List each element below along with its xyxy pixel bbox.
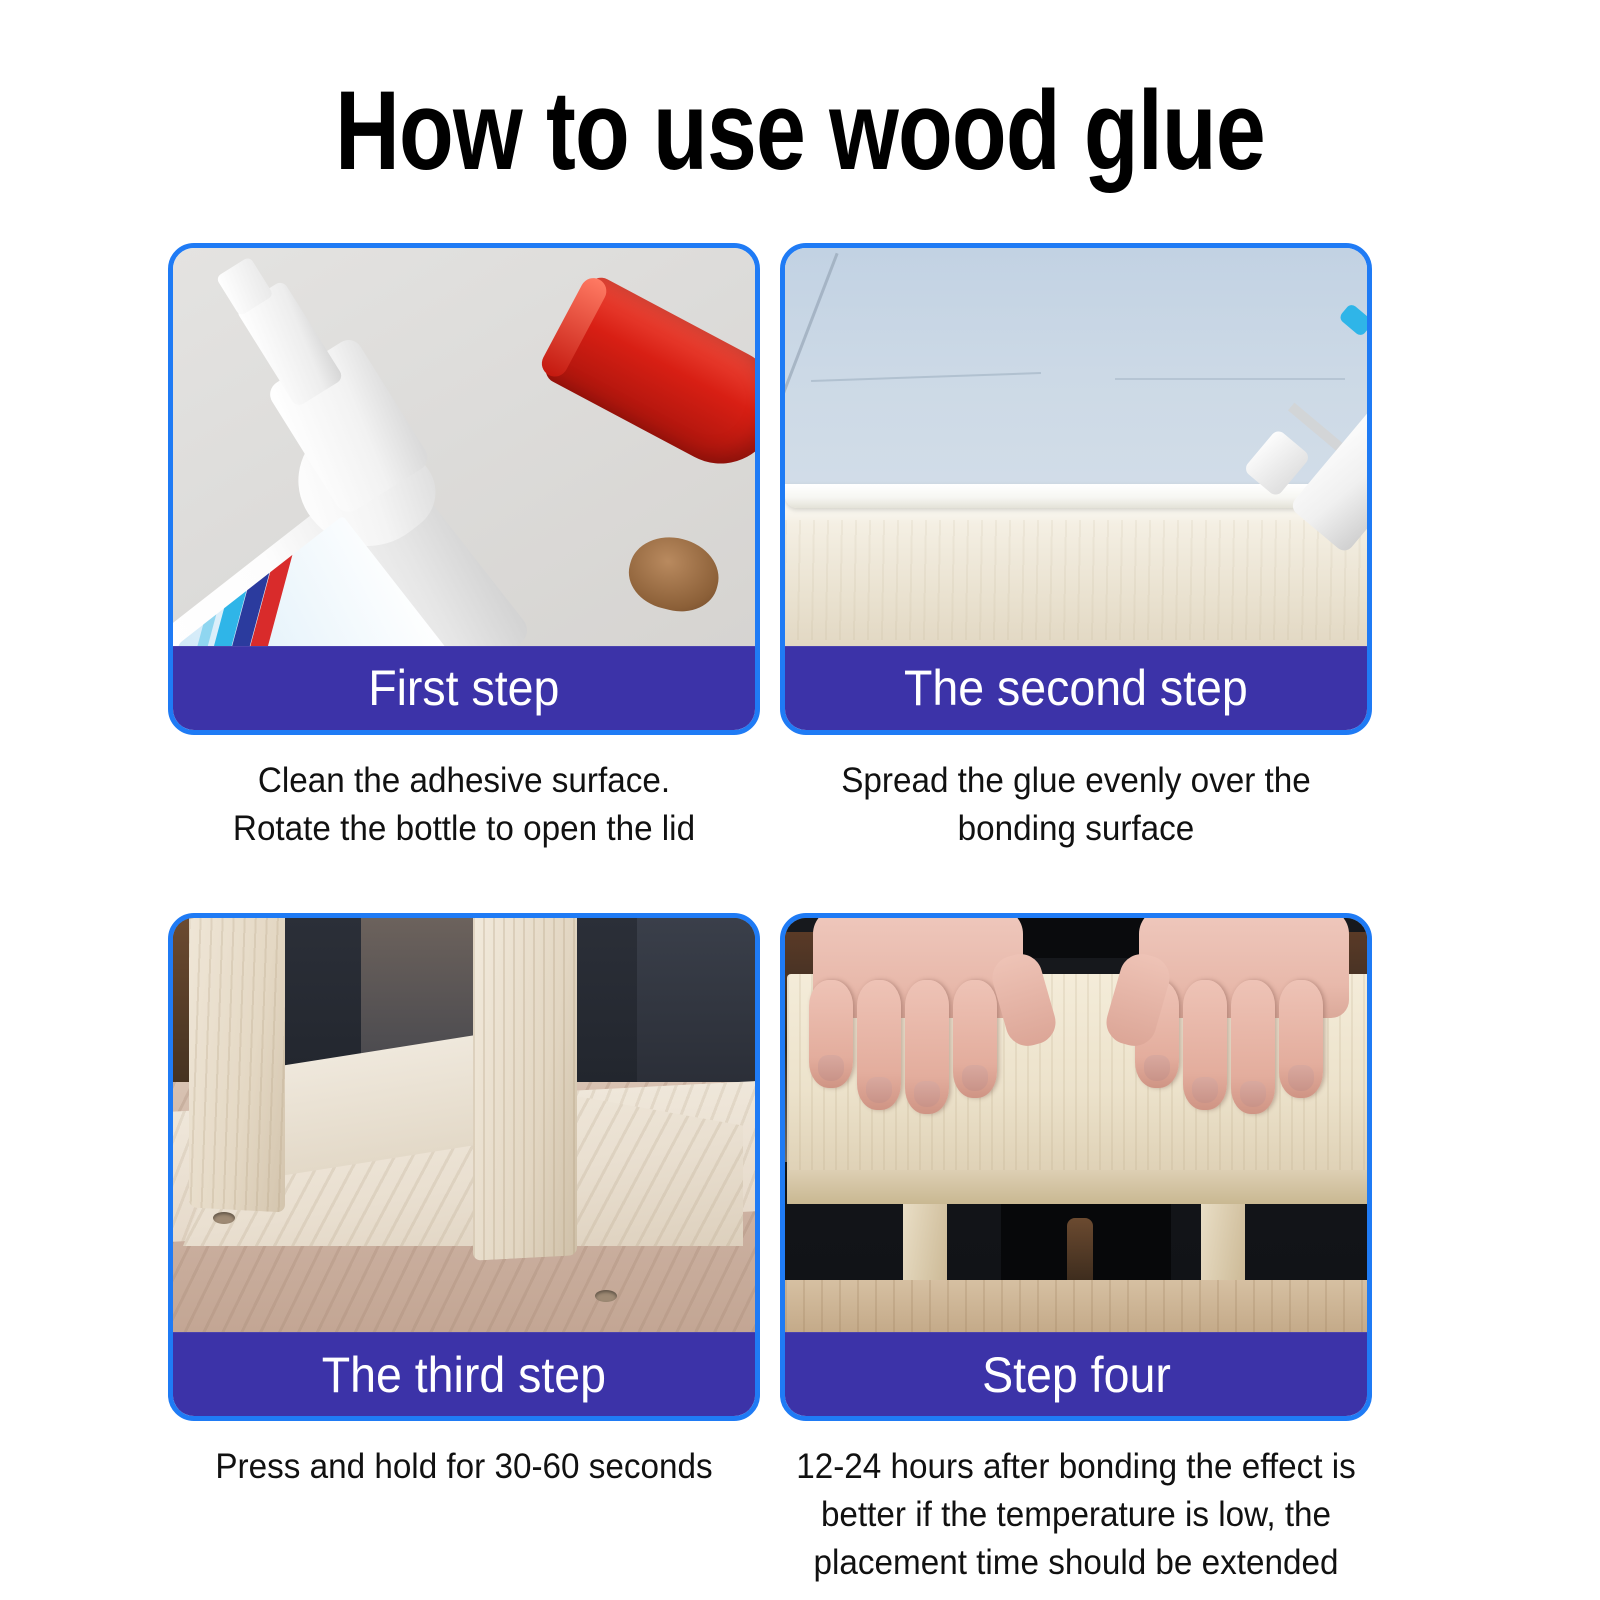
thumb-icon xyxy=(622,528,727,620)
step-card-4[interactable]: Step four xyxy=(780,913,1372,1421)
step-1-description-line-1: Clean the adhesive surface. xyxy=(174,757,754,805)
left-hand-icon xyxy=(803,918,1033,1123)
step-1-description: Clean the adhesive surface. Rotate the b… xyxy=(174,757,754,853)
step-1-photo: Logo 木材通用胶 xyxy=(173,248,755,646)
steps-grid: Logo 木材通用胶 First step Clean the adhesive… xyxy=(168,243,1432,1583)
step-1-description-line-2: Rotate the bottle to open the lid xyxy=(174,805,754,853)
step-4-badge-bar: Step four xyxy=(785,1332,1367,1417)
step-4-badge-label: Step four xyxy=(982,1346,1171,1404)
step-3-badge-label: The third step xyxy=(322,1346,606,1404)
step-3-description-line-1: Press and hold for 30-60 seconds xyxy=(174,1443,754,1491)
step-3-description: Press and hold for 30-60 seconds xyxy=(174,1443,754,1491)
step-4-description-line-1: 12-24 hours after bonding the effect is xyxy=(786,1443,1366,1491)
step-4-photo xyxy=(785,918,1367,1332)
dowel-hole-icon xyxy=(213,1212,235,1224)
step-2-description: Spread the glue evenly over the bonding … xyxy=(786,757,1366,853)
step-1-badge-bar: First step xyxy=(173,646,755,730)
step-cell-3: The third step Press and hold for 30-60 … xyxy=(168,913,760,1491)
step-3-photo xyxy=(173,918,755,1332)
step-cell-2: The second step Spread the glue evenly o… xyxy=(780,243,1372,853)
step-cell-1: Logo 木材通用胶 First step Clean the adhesive… xyxy=(168,243,760,853)
red-cap-icon xyxy=(541,273,755,483)
glue-bottle-icon: Logo 木材通用胶 xyxy=(173,347,551,646)
step-2-badge-label: The second step xyxy=(904,659,1248,717)
dowel-hole-icon xyxy=(595,1290,617,1302)
step-card-1[interactable]: Logo 木材通用胶 First step xyxy=(168,243,760,735)
step-cell-4: Step four 12-24 hours after bonding the … xyxy=(780,913,1372,1587)
left-plank-icon xyxy=(189,918,285,1213)
step-2-photo xyxy=(785,248,1367,646)
step-1-badge-label: First step xyxy=(368,659,559,717)
page-title: How to use wood glue xyxy=(160,72,1440,190)
right-hand-icon xyxy=(1129,918,1359,1123)
step-card-2[interactable]: The second step xyxy=(780,243,1372,735)
step-4-description: 12-24 hours after bonding the effect is … xyxy=(786,1443,1366,1587)
step-4-description-line-2: better if the temperature is low, the xyxy=(786,1491,1366,1539)
step-card-3[interactable]: The third step xyxy=(168,913,760,1421)
step-2-description-line-2: bonding surface xyxy=(786,805,1366,853)
step-2-description-line-1: Spread the glue evenly over the xyxy=(786,757,1366,805)
step-2-badge-bar: The second step xyxy=(785,646,1367,730)
step-3-badge-bar: The third step xyxy=(173,1332,755,1417)
step-4-description-line-3: placement time should be extended xyxy=(786,1539,1366,1587)
right-plank-icon xyxy=(473,918,577,1261)
